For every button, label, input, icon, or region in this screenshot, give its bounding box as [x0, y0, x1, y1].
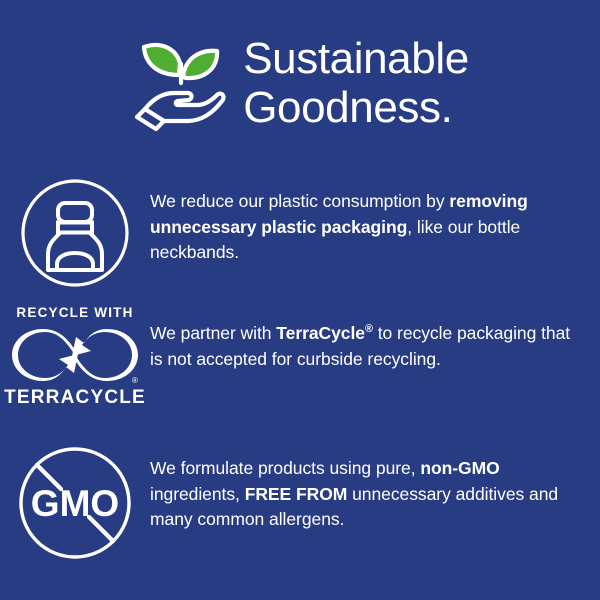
terracycle-logo-lockup: RECYCLE WITH ® TERRACYCLE [5, 305, 145, 408]
registered-mark: ® [132, 376, 138, 385]
sustainable-goodness-infographic: Sustainable Goodness. We reduce our plas… [0, 0, 600, 600]
benefit-text-plastic: We reduce our plastic consumption by rem… [150, 178, 600, 266]
benefit-icon-container [0, 178, 150, 288]
benefit-icon-container: RECYCLE WITH ® TERRACYCLE [0, 305, 150, 408]
benefit-text-terracycle: We partner with TerraCycle® to recycle p… [150, 305, 600, 372]
bottle-neckband-icon [20, 178, 130, 288]
benefit-row-terracycle: RECYCLE WITH ® TERRACYCLE We partner wit… [0, 305, 600, 408]
page-title-line-2: Goodness. [243, 83, 469, 132]
terracycle-top-label: RECYCLE WITH [16, 305, 133, 320]
page-title-line-1: Sustainable [243, 34, 469, 83]
benefit-icon-container: GMO [0, 446, 150, 560]
gmo-label: GMO [31, 483, 119, 524]
terracycle-infinity-icon: ® [9, 324, 141, 386]
benefit-text-gmo: We formulate products using pure, non-GM… [150, 446, 600, 533]
terracycle-bottom-label: TERRACYCLE [4, 387, 146, 408]
header: Sustainable Goodness. [0, 22, 600, 144]
hand-holding-sprout-icon [131, 31, 235, 135]
no-gmo-icon: GMO [18, 446, 132, 560]
benefit-row-gmo: GMO We formulate products using pure, no… [0, 446, 600, 560]
benefit-row-plastic: We reduce our plastic consumption by rem… [0, 178, 600, 288]
page-title: Sustainable Goodness. [243, 34, 469, 132]
